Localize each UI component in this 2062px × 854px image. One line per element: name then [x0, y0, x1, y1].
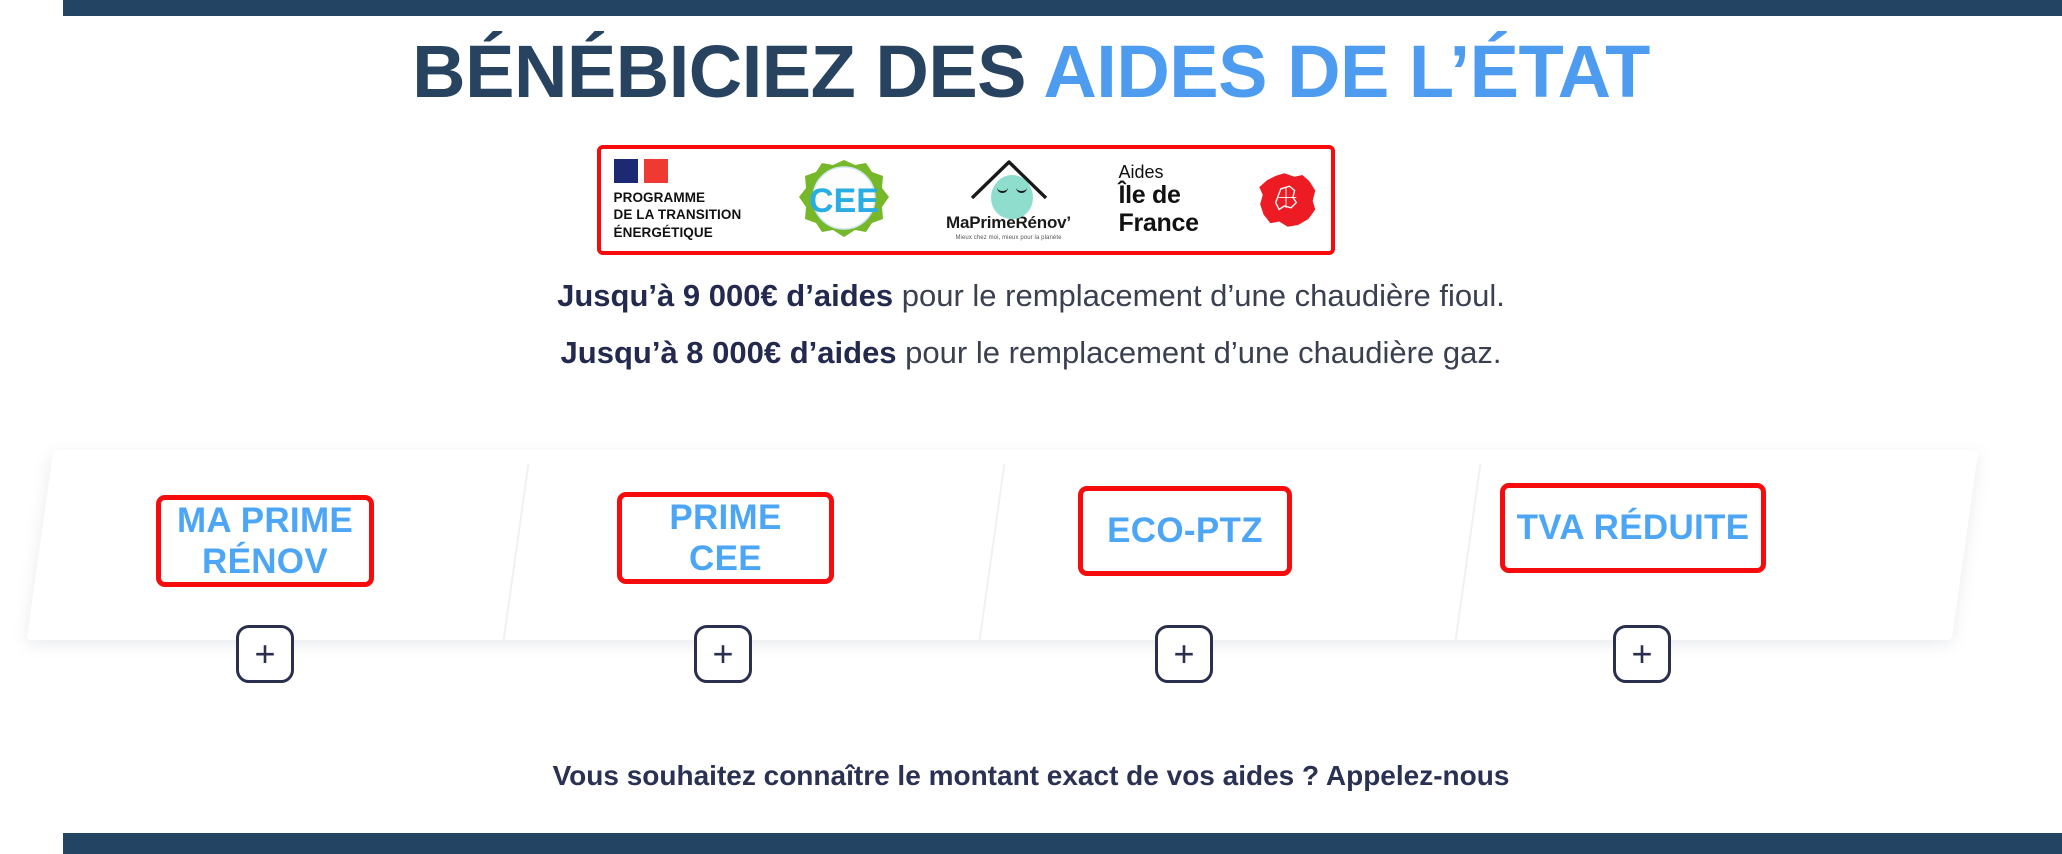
aid-card-label: PRIME CEE: [669, 497, 781, 580]
aides-etat-section: BÉNÉBICIEZ DES AIDES DE L’ÉTAT PROGRAMME…: [0, 0, 2062, 854]
aid-card-line-2: RÉNOV: [177, 541, 353, 582]
page-title-part-2: AIDES DE L’ÉTAT: [1043, 30, 1649, 113]
logo-programme-transition-energetique: PROGRAMME DE LA TRANSITION ÉNERGÉTIQUE: [614, 159, 764, 241]
aid-card-line-1: TVA RÉDUITE: [1517, 507, 1750, 548]
bottom-navy-bar: [63, 833, 2062, 854]
logo-programme-line-3: ÉNERGÉTIQUE: [614, 224, 742, 241]
logo-maprimerenov: MaPrimeRénov’ Mieux chez moi, mieux pour…: [924, 159, 1094, 241]
expand-button-tva-reduite[interactable]: +: [1613, 625, 1671, 683]
maprimerenov-mark: [949, 159, 1069, 211]
aid-line: Jusqu’à 9 000€ d’aides pour le remplacem…: [0, 280, 2062, 311]
idf-words: Aides Île de France: [1119, 163, 1247, 238]
aid-amount: Jusqu’à 8 000€ d’aides: [561, 335, 897, 370]
cee-badge-icon: CEE: [794, 157, 894, 243]
expand-button-eco-ptz[interactable]: +: [1155, 625, 1213, 683]
timeline-divider: [1455, 464, 1482, 640]
idf-line-1: Aides: [1119, 163, 1247, 183]
aid-card-tva-reduite[interactable]: TVA RÉDUITE: [1500, 483, 1766, 573]
timeline-divider: [979, 464, 1006, 640]
page-title-part-1: BÉNÉBICIEZ DES: [412, 30, 1043, 113]
expand-button-prime-cee[interactable]: +: [694, 625, 752, 683]
svg-text:CEE: CEE: [809, 182, 879, 220]
aid-amount-lines: Jusqu’à 9 000€ d’aides pour le remplacem…: [0, 280, 2062, 394]
logo-cee: CEE: [789, 157, 899, 243]
aid-card-prime-cee[interactable]: PRIME CEE: [617, 492, 834, 584]
aid-description: pour le remplacement d’une chaudière gaz…: [897, 335, 1502, 370]
aid-description: pour le remplacement d’une chaudière fio…: [893, 278, 1505, 313]
logo-aides-ile-de-france: Aides Île de France: [1119, 163, 1319, 238]
aid-card-label: TVA RÉDUITE: [1517, 507, 1750, 548]
contact-question: Vous souhaitez connaître le montant exac…: [0, 760, 2062, 792]
aid-line: Jusqu’à 8 000€ d’aides pour le remplacem…: [0, 337, 2062, 368]
maprimerenov-face-icon: [991, 175, 1033, 219]
aid-card-label: ECO-PTZ: [1107, 510, 1263, 551]
plus-icon: +: [254, 636, 275, 672]
aid-card-eco-ptz[interactable]: ECO-PTZ: [1078, 486, 1292, 576]
idf-map-icon: [1255, 167, 1319, 233]
aid-card-ma-prime-renov[interactable]: MA PRIME RÉNOV: [156, 495, 374, 587]
maprimerenov-tagline: Mieux chez moi, mieux pour la planète: [955, 235, 1061, 241]
plus-icon: +: [1173, 636, 1194, 672]
aid-card-line-1: PRIME: [669, 497, 781, 538]
expand-button-ma-prime-renov[interactable]: +: [236, 625, 294, 683]
top-navy-bar: [63, 0, 2062, 16]
aid-card-line-1: MA PRIME: [177, 500, 353, 541]
plus-icon: +: [712, 636, 733, 672]
logo-programme-text: PROGRAMME DE LA TRANSITION ÉNERGÉTIQUE: [614, 189, 742, 241]
plus-icon: +: [1631, 636, 1652, 672]
aid-timeline: MA PRIME RÉNOV PRIME CEE ECO-PTZ TVA RÉD…: [0, 440, 2062, 660]
aid-amount: Jusqu’à 9 000€ d’aides: [557, 278, 893, 313]
partner-logos-strip: PROGRAMME DE LA TRANSITION ÉNERGÉTIQUE C…: [597, 145, 1335, 255]
aid-card-line-1: ECO-PTZ: [1107, 510, 1263, 551]
page-title: BÉNÉBICIEZ DES AIDES DE L’ÉTAT: [0, 35, 2062, 109]
idf-line-2: Île de France: [1119, 182, 1247, 237]
timeline-divider: [503, 464, 530, 640]
logo-programme-line-1: PROGRAMME: [614, 189, 742, 206]
aid-card-label: MA PRIME RÉNOV: [177, 500, 353, 583]
french-flag-icon: [614, 159, 670, 183]
aid-card-line-2: CEE: [669, 538, 781, 579]
logo-programme-line-2: DE LA TRANSITION: [614, 206, 742, 223]
